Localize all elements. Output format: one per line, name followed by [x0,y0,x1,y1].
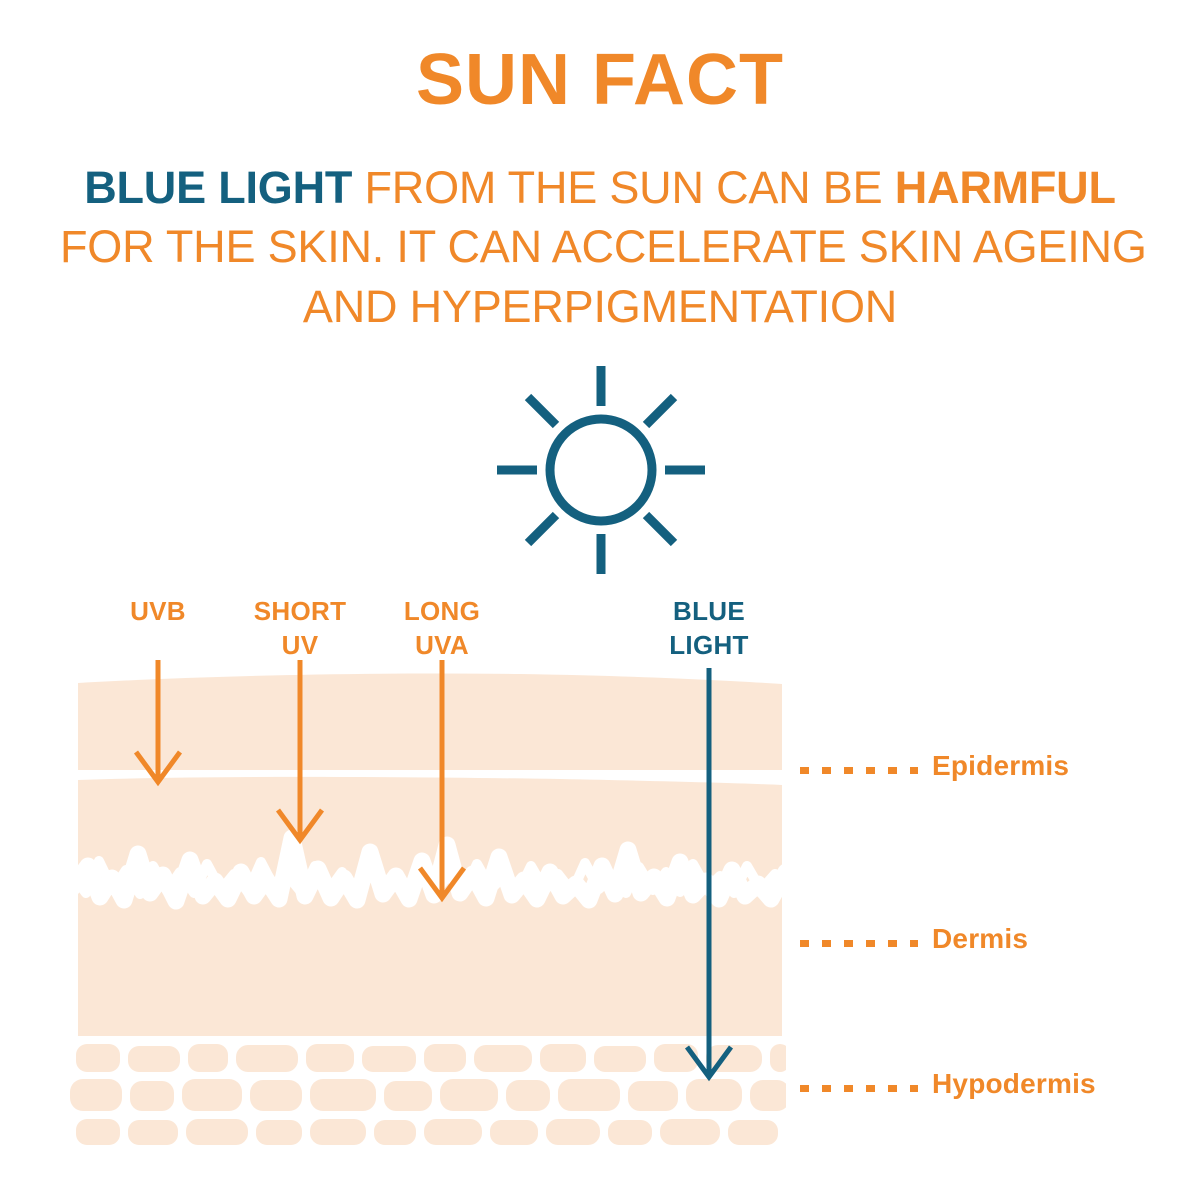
leader-line-dermis [800,940,918,947]
hypodermis-layer [70,1044,790,1145]
layer-label-epidermis: Epidermis [932,750,1069,782]
layer-label-hypodermis: Hypodermis [932,1068,1096,1100]
infographic-canvas: SUN FACT BLUE LIGHT FROM THE SUN CAN BE … [0,0,1200,1200]
leader-line-epidermis [800,767,918,774]
skin-cross-section-diagram [0,0,1200,1200]
dermis-layer [72,777,788,1036]
leader-line-hypodermis [800,1085,918,1092]
layer-label-dermis: Dermis [932,923,1028,955]
epidermis-layer [78,673,782,770]
